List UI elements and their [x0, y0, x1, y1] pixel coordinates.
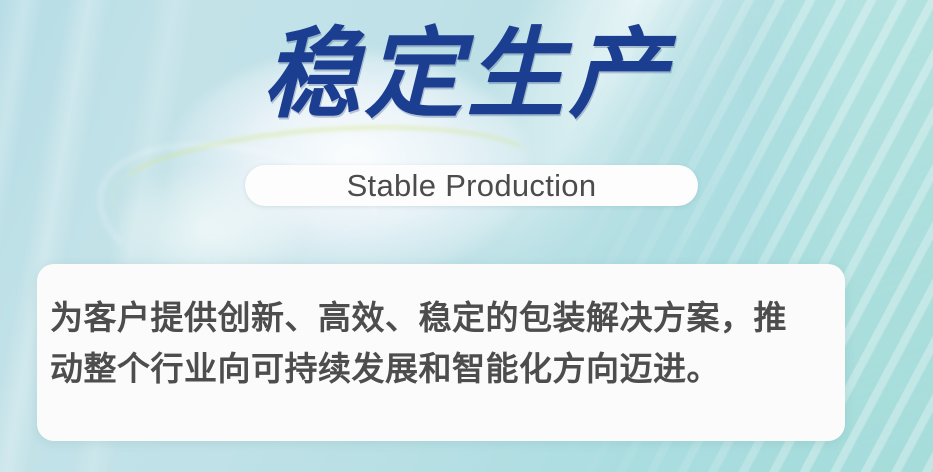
- page-title: 稳定生产: [0, 20, 933, 128]
- promo-banner: 稳定生产 Stable Production 为客户提供创新、高效、稳定的包装解…: [0, 0, 933, 472]
- description-text: 为客户提供创新、高效、稳定的包装解决方案，推动整个行业向可持续发展和智能化方向迈…: [50, 292, 815, 394]
- subtitle-pill: Stable Production: [245, 165, 698, 206]
- subtitle-label: Stable Production: [347, 169, 597, 203]
- description-card: 为客户提供创新、高效、稳定的包装解决方案，推动整个行业向可持续发展和智能化方向迈…: [37, 264, 845, 441]
